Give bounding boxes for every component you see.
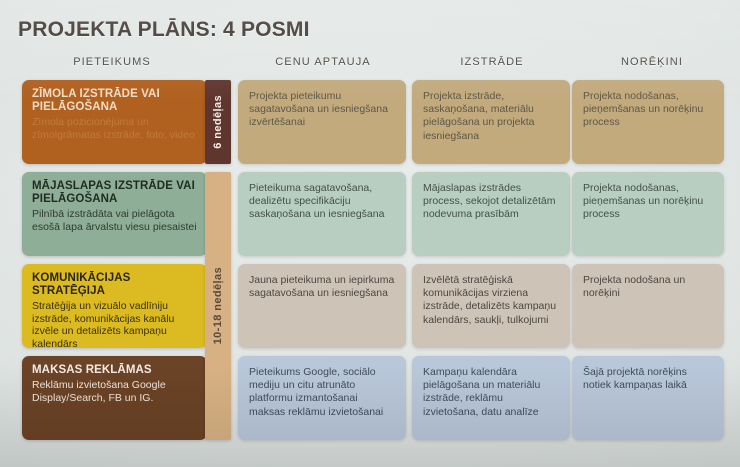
phase-card-subtitle: Reklāmu izvietošana Google Display/Searc…: [32, 379, 197, 404]
cell-cenu-aptauja: Jauna pieteikuma un iepirkuma sagatavoša…: [238, 264, 406, 348]
cell-cenu-aptauja: Pieteikuma sagatavošana, dealizētu speci…: [238, 172, 406, 256]
phase-card-majaslapas-izstrade[interactable]: MĀJASLAPAS IZSTRĀDE VAI PIELĀGOŠANA Piln…: [22, 172, 207, 256]
table-row: ZĪMOLA IZSTRĀDE VAI PIELĀGOŠANA Zīmola p…: [0, 80, 740, 168]
table-row: MAKSAS REKLĀMAS Reklāmu izvietošana Goog…: [0, 356, 740, 444]
phase-card-maksas-reklamas[interactable]: MAKSAS REKLĀMAS Reklāmu izvietošana Goog…: [22, 356, 207, 440]
cell-norekini: Projekta nodošana un norēķini: [572, 264, 724, 348]
phase-card-title: MAKSAS REKLĀMAS: [32, 364, 197, 377]
column-header-row: PIETEIKUMS CENU APTAUJA IZSTRĀDE NORĒĶIN…: [0, 56, 740, 76]
timeline-bar-6-nedelas: 6 nedēļas: [205, 80, 231, 164]
table-row: MĀJASLAPAS IZSTRĀDE VAI PIELĀGOŠANA Piln…: [0, 172, 740, 260]
cell-izstrade: Izvēlētā stratēģiskā komunikācijas virzi…: [412, 264, 570, 348]
timeline-bar-label: 6 nedēļas: [212, 95, 224, 149]
cell-cenu-aptauja: Pieteikums Google, sociālo mediju un cit…: [238, 356, 406, 440]
cell-norekini: Šajā projektā norēķins notiek kampaņas l…: [572, 356, 724, 440]
cell-cenu-aptauja: Projekta pieteikumu sagatavošana un iesn…: [238, 80, 406, 164]
phase-card-subtitle: Zīmola pozicionējuma un zīmolgrāmatas iz…: [32, 116, 197, 141]
phase-card-zimola-izstrade[interactable]: ZĪMOLA IZSTRĀDE VAI PIELĀGOŠANA Zīmola p…: [22, 80, 207, 164]
page-title: PROJEKTA PLĀNS: 4 POSMI: [18, 18, 310, 42]
timeline-bar-10-18-nedelas: 10-18 nedēļas: [205, 172, 231, 440]
phase-card-subtitle: Pilnībā izstrādāta vai pielāgota esošā l…: [32, 208, 197, 233]
phase-card-title: ZĪMOLA IZSTRĀDE VAI PIELĀGOŠANA: [32, 88, 197, 114]
cell-norekini: Projekta nodošanas, pieņemšanas un norēķ…: [572, 80, 724, 164]
slide-canvas: PROJEKTA PLĀNS: 4 POSMI PIETEIKUMS CENU …: [0, 0, 740, 467]
phase-grid: ZĪMOLA IZSTRĀDE VAI PIELĀGOŠANA Zīmola p…: [0, 80, 740, 448]
table-row: KOMUNIKĀCIJAS STRATĒĢIJA Stratēģija un v…: [0, 264, 740, 352]
column-header-pieteikums: PIETEIKUMS: [22, 56, 202, 68]
phase-card-subtitle: Stratēģija un vizuālo vadlīniju izstrāde…: [32, 300, 197, 348]
timeline-bar-label: 10-18 nedēļas: [212, 267, 224, 344]
column-header-cenu-aptauja: CENU APTAUJA: [238, 56, 408, 68]
cell-izstrade: Kampaņu kalendāra pielāgošana un materiā…: [412, 356, 570, 440]
cell-izstrade: Mājaslapas izstrādes process, sekojot de…: [412, 172, 570, 256]
phase-card-title: MĀJASLAPAS IZSTRĀDE VAI PIELĀGOŠANA: [32, 180, 197, 206]
column-header-izstrade: IZSTRĀDE: [412, 56, 572, 68]
cell-norekini: Projekta nodošanas, pieņemšanas un norēķ…: [572, 172, 724, 256]
phase-card-title: KOMUNIKĀCIJAS STRATĒĢIJA: [32, 272, 197, 298]
column-header-norekini: NORĒĶINI: [572, 56, 732, 68]
phase-card-komunikacijas-strategija[interactable]: KOMUNIKĀCIJAS STRATĒĢIJA Stratēģija un v…: [22, 264, 207, 348]
cell-izstrade: Projekta izstrāde, saskaņošana, materiāl…: [412, 80, 570, 164]
